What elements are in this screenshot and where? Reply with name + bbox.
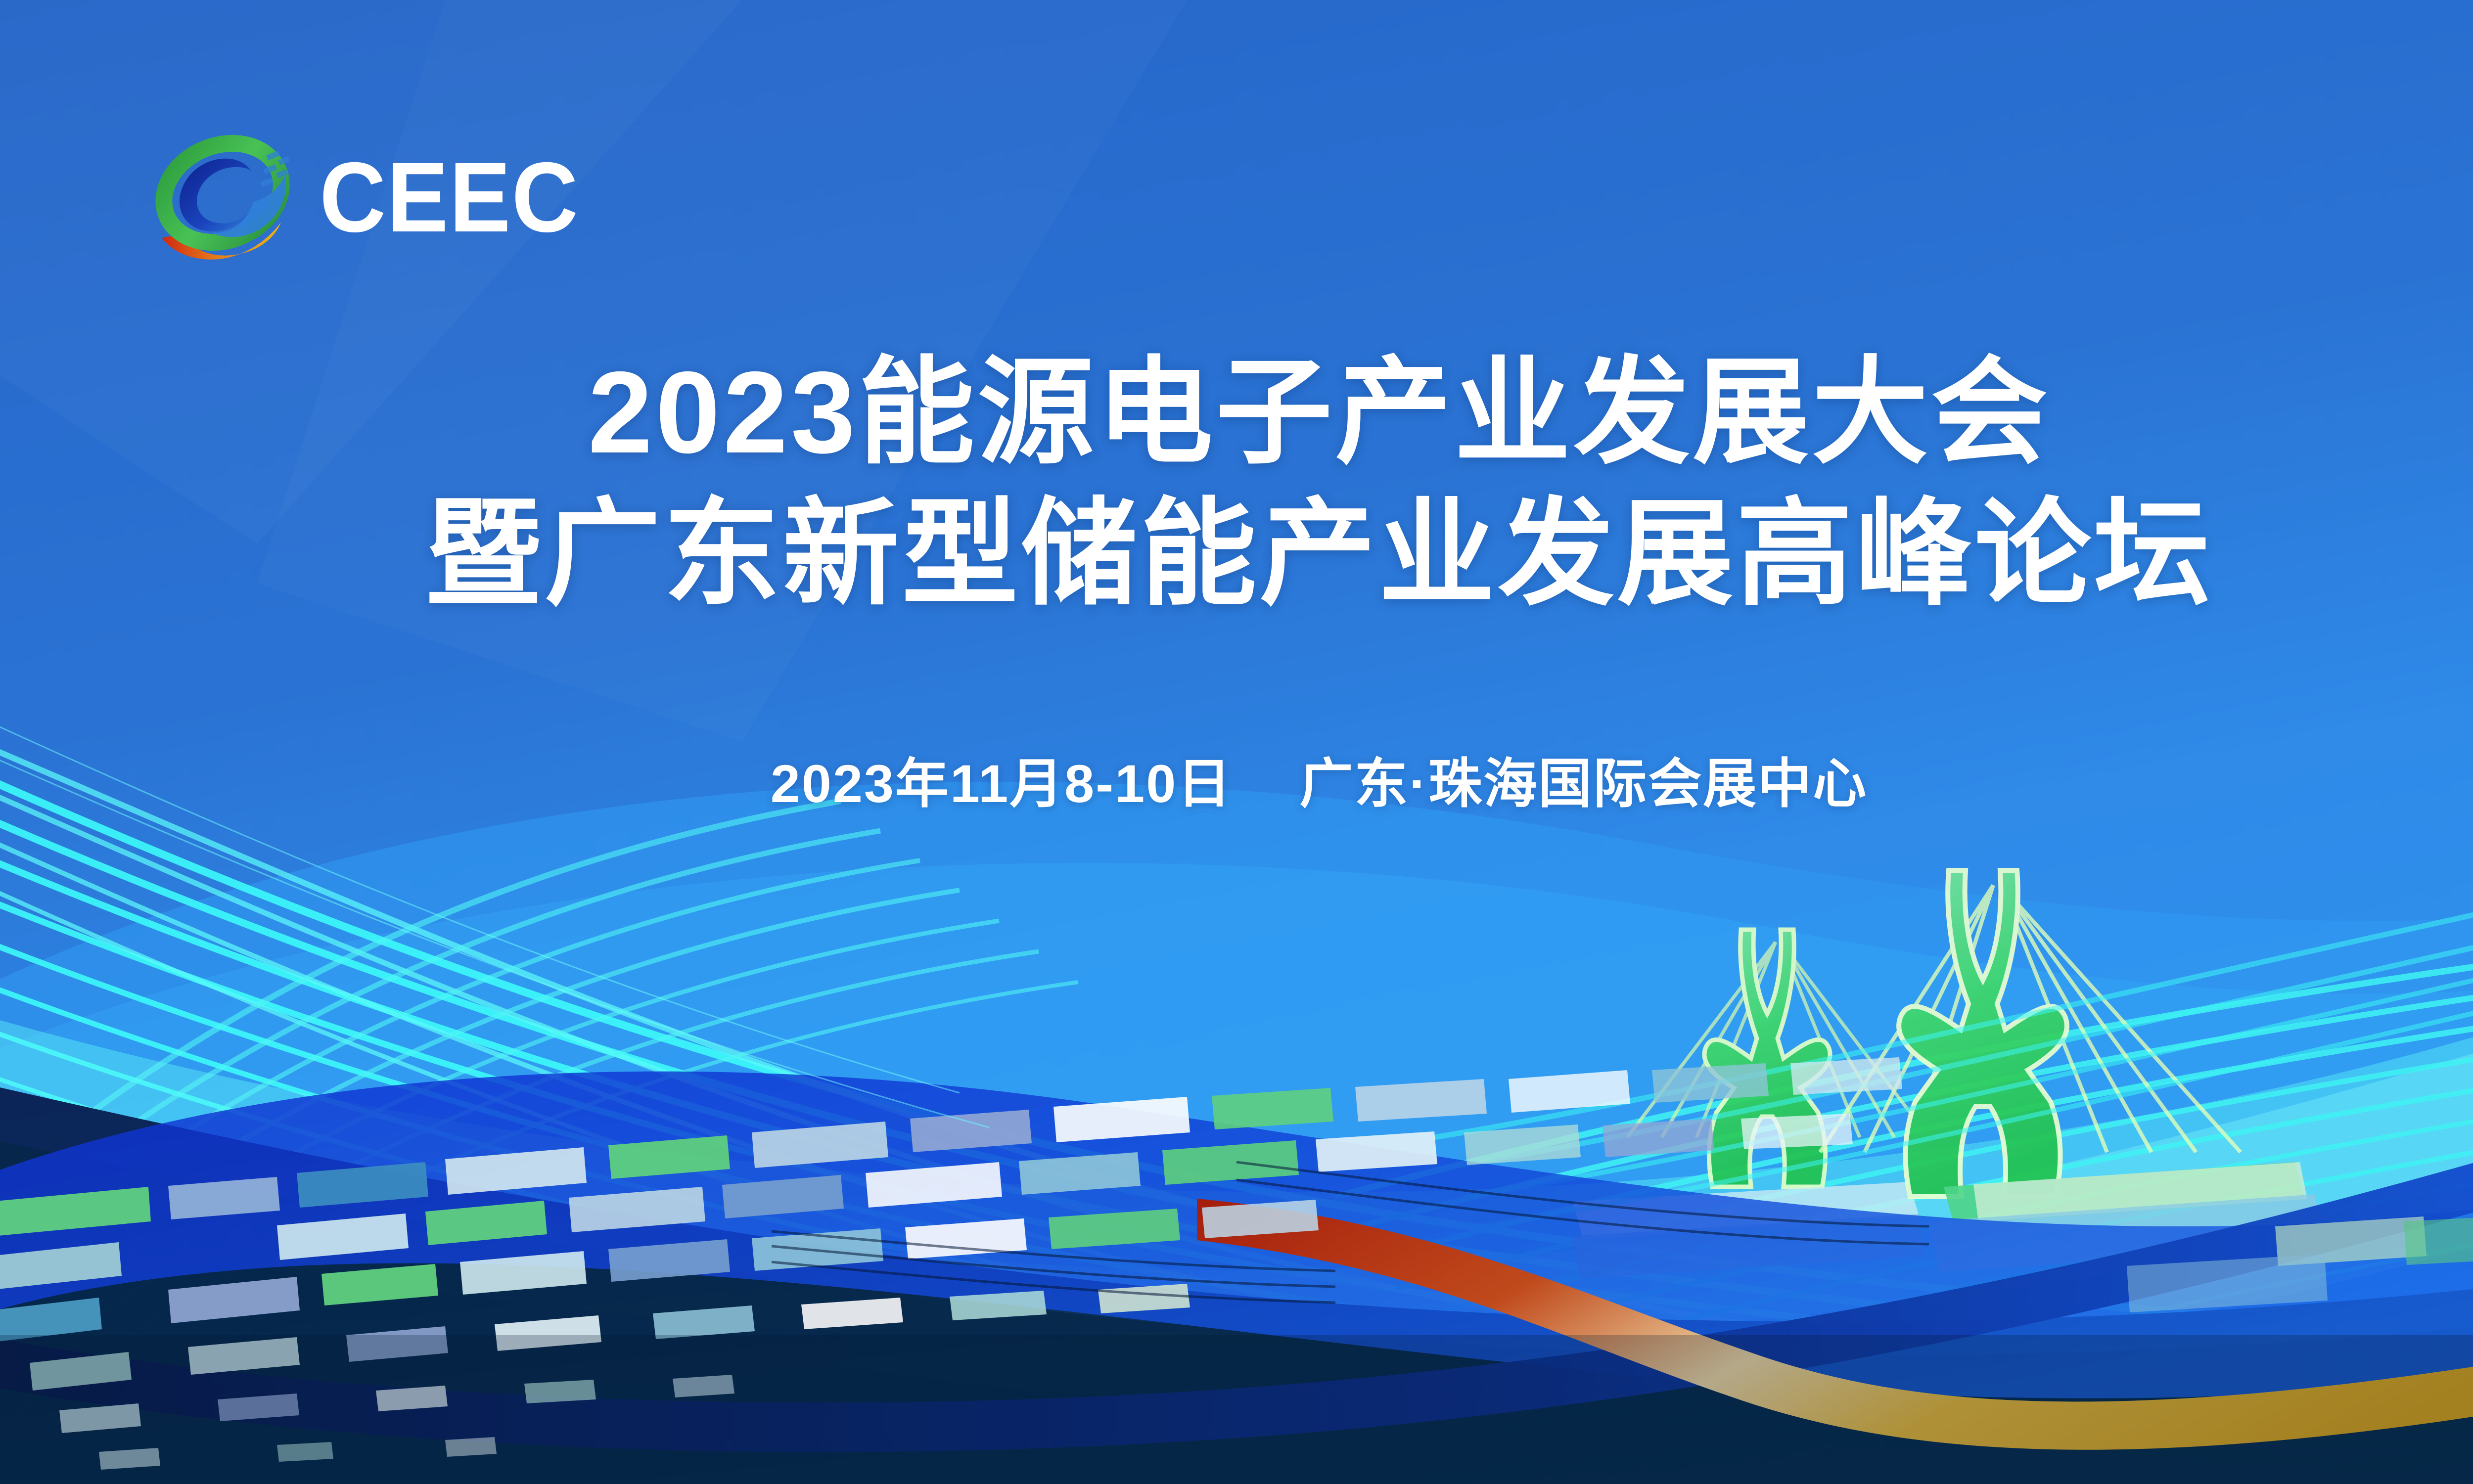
- poster-title: 2023能源电子产业发展大会 暨广东新型储能产业发展高峰论坛: [0, 346, 2473, 620]
- ceec-wordmark: CEEC: [320, 148, 579, 248]
- title-line-2: 暨广东新型储能产业发展高峰论坛: [59, 488, 2473, 620]
- event-venue: 广东·珠海国际会展中心: [1299, 754, 1868, 813]
- event-meta: 2023年11月8-10日 广东·珠海国际会展中心: [0, 741, 2473, 818]
- ceec-swirl-logo-icon: [148, 124, 297, 272]
- poster-canvas: CEEC 2023能源电子产业发展大会 暨广东新型储能产业发展高峰论坛 2023…: [0, 0, 2473, 1484]
- ceec-logo[interactable]: CEEC: [148, 124, 579, 272]
- title-line-1: 2023能源电子产业发展大会: [59, 346, 2473, 479]
- event-date: 2023年11月8-10日: [771, 754, 1233, 813]
